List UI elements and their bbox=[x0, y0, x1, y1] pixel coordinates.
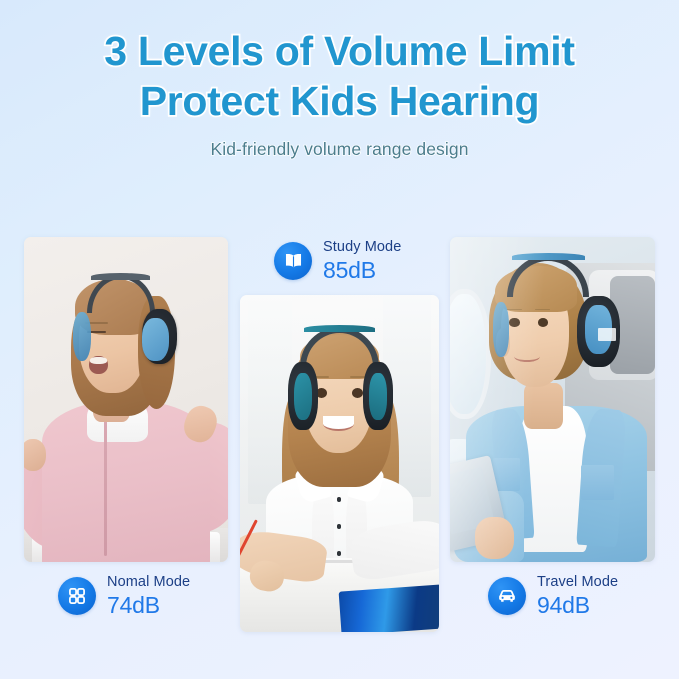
mode-label: Travel Mode bbox=[537, 575, 618, 590]
mode-db-value: 85dB bbox=[323, 259, 401, 282]
photo-travel-mode bbox=[450, 237, 655, 562]
mode-label: Nomal Mode bbox=[107, 575, 190, 590]
photo-panel-travel-mode bbox=[450, 237, 655, 562]
photo-panel-normal-mode bbox=[24, 237, 228, 562]
headline-line-1: 3 Levels of Volume Limit bbox=[0, 26, 679, 76]
photo-study-mode bbox=[240, 295, 439, 632]
open-book-icon bbox=[274, 242, 312, 280]
mode-label: Study Mode bbox=[323, 240, 401, 255]
grid-four-squares-icon bbox=[58, 577, 96, 615]
mode-db-value: 74dB bbox=[107, 594, 190, 617]
mode-badge-text: Study Mode 85dB bbox=[323, 240, 401, 282]
mode-badge-travel: Travel Mode 94dB bbox=[488, 575, 618, 617]
headline-block: 3 Levels of Volume Limit Protect Kids He… bbox=[0, 26, 679, 160]
mode-badge-text: Nomal Mode 74dB bbox=[107, 575, 190, 617]
mode-db-value: 94dB bbox=[537, 594, 618, 617]
mode-badge-study: Study Mode 85dB bbox=[274, 240, 401, 282]
photo-normal-mode bbox=[24, 237, 228, 562]
subtitle: Kid-friendly volume range design bbox=[0, 139, 679, 160]
mode-badge-normal: Nomal Mode 74dB bbox=[58, 575, 190, 617]
photo-panel-study-mode bbox=[240, 295, 439, 632]
car-front-icon bbox=[488, 577, 526, 615]
headline-line-2: Protect Kids Hearing bbox=[0, 76, 679, 126]
mode-badge-text: Travel Mode 94dB bbox=[537, 575, 618, 617]
